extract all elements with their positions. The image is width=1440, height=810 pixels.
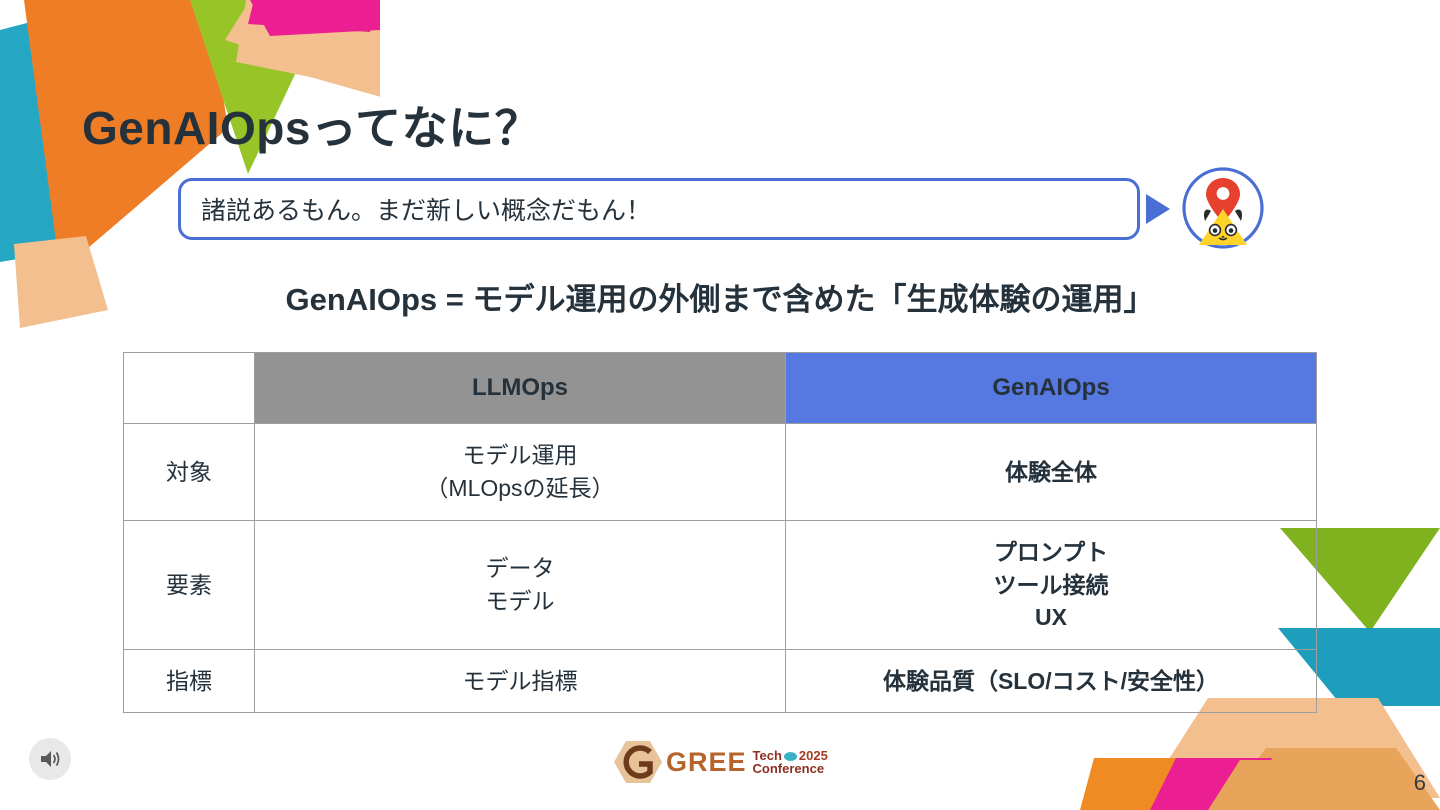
slide-canvas: GenAIOpsってなに？ 諸説あるもん。まだ新しい概念だもん！ GenAIOp… [0, 0, 1440, 810]
gree-tech-conference-logo: GREE Tech2025 Conference [612, 738, 830, 786]
table-cell-genaiops: 体験品質（SLO/コスト/安全性） [786, 650, 1317, 713]
speech-bubble-tail-icon [1146, 194, 1170, 224]
page-title: GenAIOpsってなに？ [82, 92, 541, 158]
table-row: 要素 データ モデル プロンプト ツール接続 UX [124, 521, 1317, 650]
cell-line: モデル運用 [255, 439, 785, 472]
table-header-row: LLMOps GenAIOps [124, 353, 1317, 424]
speech-bubble-group: 諸説あるもん。まだ新しい概念だもん！ [178, 178, 1278, 244]
cell-line: モデル [255, 585, 785, 618]
table-header-llmops: LLMOps [255, 353, 786, 424]
table-row: 指標 モデル指標 体験品質（SLO/コスト/安全性） [124, 650, 1317, 713]
table-cell-llmops: モデル指標 [255, 650, 786, 713]
cell-line: データ [255, 552, 785, 585]
cell-line: UX [786, 601, 1316, 634]
logo-oval-icon [784, 752, 797, 761]
cell-line: ツール接続 [786, 569, 1316, 602]
table-cell-genaiops: 体験全体 [786, 424, 1317, 521]
table-header-blank [124, 353, 255, 424]
cell-line: （MLOpsの延長） [255, 472, 785, 505]
audio-play-button[interactable] [29, 738, 71, 780]
gree-hexagon-logo-icon [612, 739, 664, 785]
logo-gree-text: GREE [666, 747, 747, 778]
table-header-genaiops: GenAIOps [786, 353, 1317, 424]
speech-bubble: 諸説あるもん。まだ新しい概念だもん！ [178, 178, 1140, 240]
cell-line: 体験品質（SLO/コスト/安全性） [786, 665, 1316, 698]
cell-line: 体験全体 [786, 456, 1316, 489]
table-cell-llmops: モデル運用 （MLOpsの延長） [255, 424, 786, 521]
mascot-avatar-icon [1180, 165, 1266, 251]
comparison-table: LLMOps GenAIOps 対象 モデル運用 （MLOpsの延長） 体験全体… [123, 352, 1317, 713]
cell-line: モデル指標 [255, 665, 785, 698]
table-row-label: 要素 [124, 521, 255, 650]
table-cell-genaiops: プロンプト ツール接続 UX [786, 521, 1317, 650]
subtitle-statement: GenAIOps = モデル運用の外側まで含めた「生成体験の運用」 [0, 274, 1440, 319]
speaker-icon [39, 749, 61, 769]
table-row-label: 指標 [124, 650, 255, 713]
table-row-label: 対象 [124, 424, 255, 521]
page-number: 6 [1414, 770, 1426, 796]
logo-conference-label: Conference [753, 761, 825, 776]
cell-line: プロンプト [786, 536, 1316, 569]
decoration-magenta-top [248, 0, 378, 40]
table-cell-llmops: データ モデル [255, 521, 786, 650]
table-row: 対象 モデル運用 （MLOpsの延長） 体験全体 [124, 424, 1317, 521]
speech-bubble-text: 諸説あるもん。まだ新しい概念だもん！ [201, 191, 651, 227]
logo-tech-conference-text: Tech2025 Conference [753, 749, 828, 775]
